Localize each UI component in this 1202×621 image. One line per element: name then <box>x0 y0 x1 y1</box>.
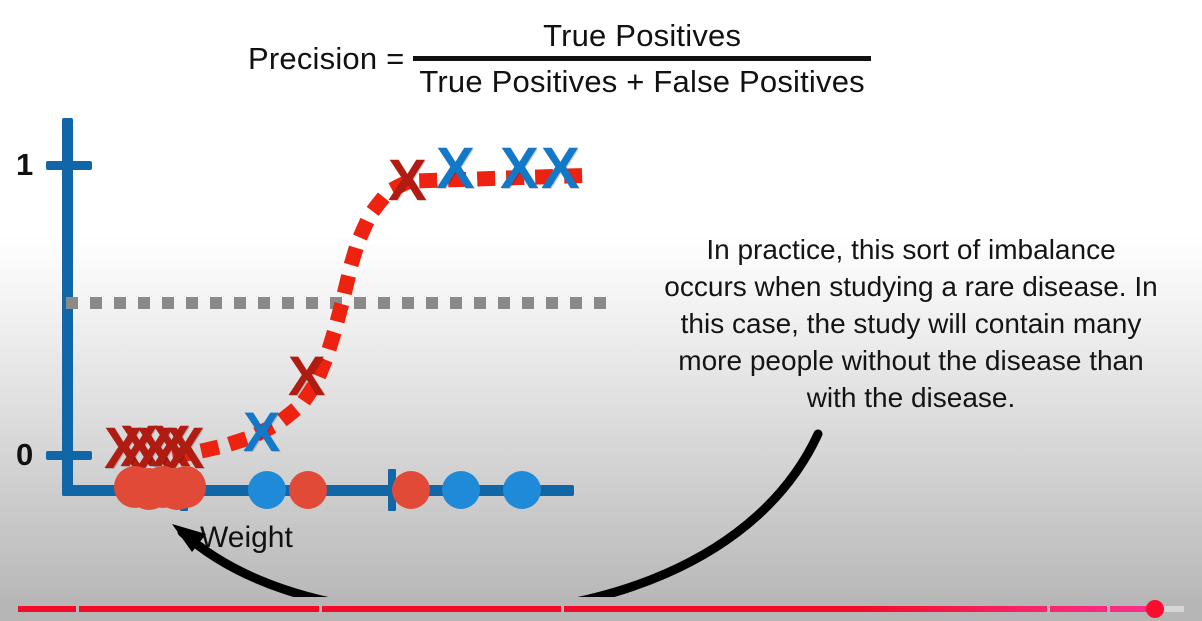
progress-played <box>18 606 1155 612</box>
note-line-5: with the disease. <box>628 380 1194 417</box>
x-mark-red-mid: X <box>288 348 325 404</box>
formula-fraction: True Positives True Positives + False Po… <box>413 18 870 100</box>
precision-formula: Precision = True Positives True Positive… <box>248 18 871 100</box>
dot-blue-1 <box>248 471 286 509</box>
x-mark-blue-high-1: X <box>436 140 475 198</box>
formula-lhs: Precision = <box>248 41 413 77</box>
x-mark-blue-high-2: X <box>500 140 539 198</box>
y-label-zero: 0 <box>16 437 33 473</box>
chapter-divider <box>1107 606 1110 612</box>
y-label-one: 1 <box>16 147 33 183</box>
progress-track[interactable] <box>18 606 1184 612</box>
note-line-1: In practice, this sort of imbalance <box>628 232 1194 269</box>
dot-blue-2 <box>442 471 480 509</box>
dot-blue-3 <box>503 471 541 509</box>
chapter-divider <box>561 606 564 612</box>
x-mark-blue-low: X <box>243 404 280 460</box>
note-line-2: occurs when studying a rare disease. In <box>628 269 1194 306</box>
progress-scrubber-handle[interactable] <box>1146 600 1164 618</box>
slide-stage: Precision = True Positives True Positive… <box>0 0 1202 621</box>
formula-denominator: True Positives + False Positives <box>413 61 870 100</box>
video-progress-bar[interactable] <box>0 597 1202 621</box>
note-line-4: more people without the disease than <box>628 343 1194 380</box>
chapter-divider <box>319 606 322 612</box>
chapter-divider <box>76 606 79 612</box>
x-mark-blue-high-3: X <box>541 140 580 198</box>
note-line-3: this case, the study will contain many <box>628 306 1194 343</box>
x-mark-red-high: X <box>388 152 427 210</box>
explanatory-note: In practice, this sort of imbalance occu… <box>628 232 1194 417</box>
dot-cluster-left <box>114 466 206 512</box>
x-axis-label-weight: Weight <box>200 521 293 555</box>
dot-red <box>166 466 206 508</box>
y-tick-zero <box>46 451 92 460</box>
dot-red-2 <box>392 471 430 509</box>
y-tick-one <box>46 161 92 170</box>
threshold-dashed-line <box>66 297 612 309</box>
formula-numerator: True Positives <box>529 18 755 56</box>
dot-red-1 <box>289 471 327 509</box>
chapter-divider <box>1047 606 1050 612</box>
